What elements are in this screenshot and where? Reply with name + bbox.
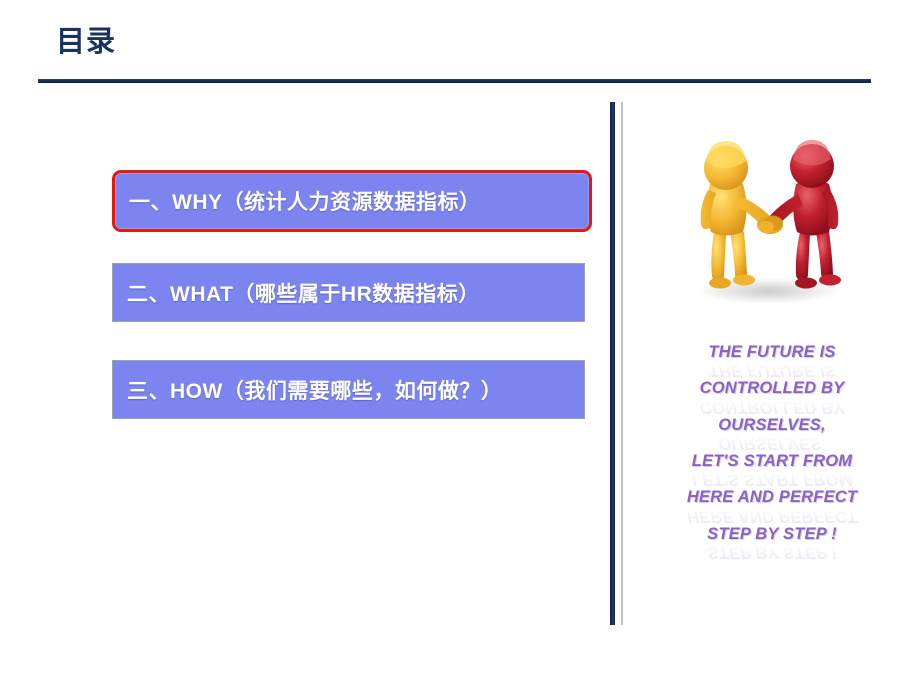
vertical-divider: [610, 102, 624, 625]
motto-line: OURSELVES, OURSELVES,: [648, 417, 896, 434]
agenda-item-what[interactable]: 二、WHAT（哪些属于HR数据指标）: [112, 263, 585, 322]
motto-line-reflection: OURSELVES,: [648, 434, 896, 451]
page-title: 目录: [56, 28, 116, 57]
motto-line-reflection: LET'S START FROM: [648, 470, 896, 487]
motto-line: THE FUTURE IS THE FUTURE IS: [648, 344, 896, 361]
divider-thick-bar: [610, 102, 615, 625]
motto-line-text: HERE AND PERFECT: [687, 488, 857, 506]
agenda-list: 一、WHY（统计人力资源数据指标） 二、WHAT（哪些属于HR数据指标） 三、H…: [112, 170, 592, 419]
motto-line-text: OURSELVES,: [718, 416, 825, 434]
motto-line-text: THE FUTURE IS: [708, 343, 835, 361]
motto-line-text: CONTROLLED BY: [700, 379, 845, 397]
motto-text-block: THE FUTURE IS THE FUTURE IS CONTROLLED B…: [648, 344, 896, 562]
motto-line: STEP BY STEP ! STEP BY STEP !: [648, 526, 896, 543]
motto-line: LET'S START FROM LET'S START FROM: [648, 453, 896, 470]
agenda-item-why[interactable]: 一、WHY（统计人力资源数据指标）: [112, 170, 592, 232]
motto-line-text: STEP BY STEP !: [707, 525, 837, 543]
divider-thin-bar: [621, 102, 623, 625]
motto-line-reflection: CONTROLLED BY: [648, 398, 896, 415]
agenda-item-label: 二、WHAT（哪些属于HR数据指标）: [127, 278, 480, 308]
agenda-item-label: 三、HOW（我们需要哪些，如何做？）: [127, 375, 502, 405]
agenda-item-label: 一、WHY（统计人力资源数据指标）: [129, 186, 481, 216]
slide-canvas: 目录 一、WHY（统计人力资源数据指标） 二、WHAT（哪些属于HR数据指标） …: [0, 0, 900, 675]
motto-line: HERE AND PERFECT HERE AND PERFECT: [648, 489, 896, 506]
handshake-figures-image: [660, 128, 880, 323]
motto-line-reflection: STEP BY STEP !: [648, 543, 896, 560]
agenda-item-how[interactable]: 三、HOW（我们需要哪些，如何做？）: [112, 360, 585, 419]
title-divider-rule: [38, 79, 871, 83]
motto-line-reflection: HERE AND PERFECT: [648, 507, 896, 524]
motto-line-reflection: THE FUTURE IS: [648, 361, 896, 378]
motto-line-text: LET'S START FROM: [692, 452, 853, 470]
handshake-illustration-icon: [660, 128, 880, 323]
motto-line: CONTROLLED BY CONTROLLED BY: [648, 380, 896, 397]
